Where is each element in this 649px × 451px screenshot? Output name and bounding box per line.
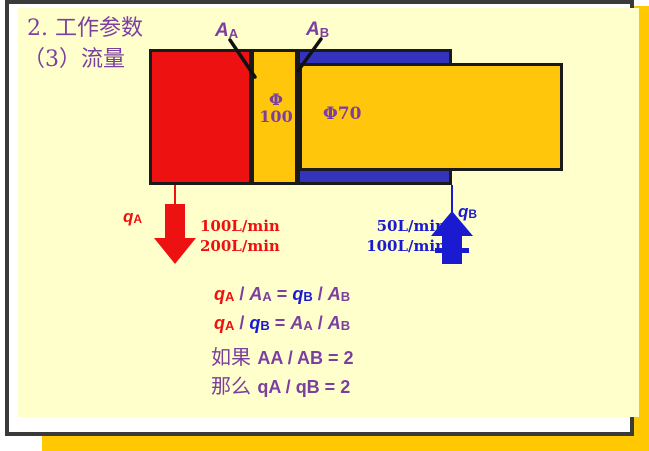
area-a-base: A: [215, 20, 229, 41]
equation-token-4: A: [262, 289, 271, 304]
page-title: 2. 工作参数: [27, 10, 143, 42]
area-b-subscript: B: [320, 25, 329, 40]
equation-1: qA / AA = qB / AB: [214, 284, 350, 305]
flow-qb-subscript: B: [468, 207, 477, 221]
area-a-subscript: A: [229, 26, 238, 41]
flow-qa-arrow: [154, 204, 196, 264]
equation-token-1: A: [225, 289, 234, 304]
equation-token-4: B: [260, 318, 269, 333]
conclusion-2-expression: qA / qB = 2: [257, 377, 350, 397]
flow-qb-label: qB: [458, 202, 477, 222]
conclusion-1-prefix: 如果: [211, 345, 251, 369]
slide-shadow-bottom: [42, 436, 649, 451]
slide-frame: 2. 工作参数 （3）流量 Φ 100 Φ70 AA AB qA: [5, 0, 634, 436]
rod-dimension-label: Φ70: [323, 106, 361, 124]
equation-token-6: q: [292, 284, 303, 304]
flow-qb-base: q: [458, 202, 468, 221]
conclusion-1-expression: AA / AB = 2: [257, 348, 353, 368]
flow-rate-right-1: 50L/min: [346, 216, 446, 236]
equation-token-2: /: [234, 313, 249, 333]
equation-token-9: A: [328, 284, 341, 304]
equation-token-7: A: [303, 318, 312, 333]
area-b-label: AB: [306, 19, 329, 41]
equation-token-8: /: [313, 284, 328, 304]
flow-rates-right: 50L/min 100L/min: [346, 216, 446, 256]
area-b-base: A: [306, 19, 320, 40]
area-a-label: AA: [215, 20, 238, 42]
bore-dimension-label: Φ 100: [256, 92, 296, 126]
equation-token-7: B: [303, 289, 312, 304]
flow-rate-left-1: 100L/min: [200, 216, 280, 236]
bore-dimension-value: 100: [259, 107, 292, 126]
flow-rates-left: 100L/min 200L/min: [200, 216, 280, 256]
flow-qa-subscript: A: [133, 212, 142, 226]
equation-token-8: /: [313, 313, 328, 333]
equation-token-5: =: [272, 284, 293, 304]
equation-token-5: =: [270, 313, 291, 333]
equation-token-0: q: [214, 284, 225, 304]
flow-rate-right-2: 100L/min: [346, 236, 446, 256]
equation-token-3: A: [249, 284, 262, 304]
equation-token-2: /: [234, 284, 249, 304]
conclusion-2: 那么 qA / qB = 2: [211, 370, 350, 399]
flow-rate-left-2: 200L/min: [200, 236, 280, 256]
piston-chamber-a-block: [149, 49, 252, 185]
equation-token-9: A: [328, 313, 341, 333]
conclusion-1: 如果 AA / AB = 2: [211, 341, 354, 370]
page-subtitle: （3）流量: [23, 41, 125, 73]
equation-2: qA / qB = AA / AB: [214, 313, 350, 334]
equation-token-0: q: [214, 313, 225, 333]
equation-token-10: B: [341, 318, 350, 333]
slide-canvas: 2. 工作参数 （3）流量 Φ 100 Φ70 AA AB qA: [18, 8, 639, 417]
equation-token-10: B: [341, 289, 350, 304]
conclusion-2-prefix: 那么: [211, 374, 251, 398]
flow-qa-base: q: [123, 207, 133, 226]
slide-root: 2. 工作参数 （3）流量 Φ 100 Φ70 AA AB qA: [0, 0, 649, 451]
equation-token-6: A: [290, 313, 303, 333]
flow-qa-label: qA: [123, 207, 142, 227]
equation-token-1: A: [225, 318, 234, 333]
equation-token-3: q: [249, 313, 260, 333]
